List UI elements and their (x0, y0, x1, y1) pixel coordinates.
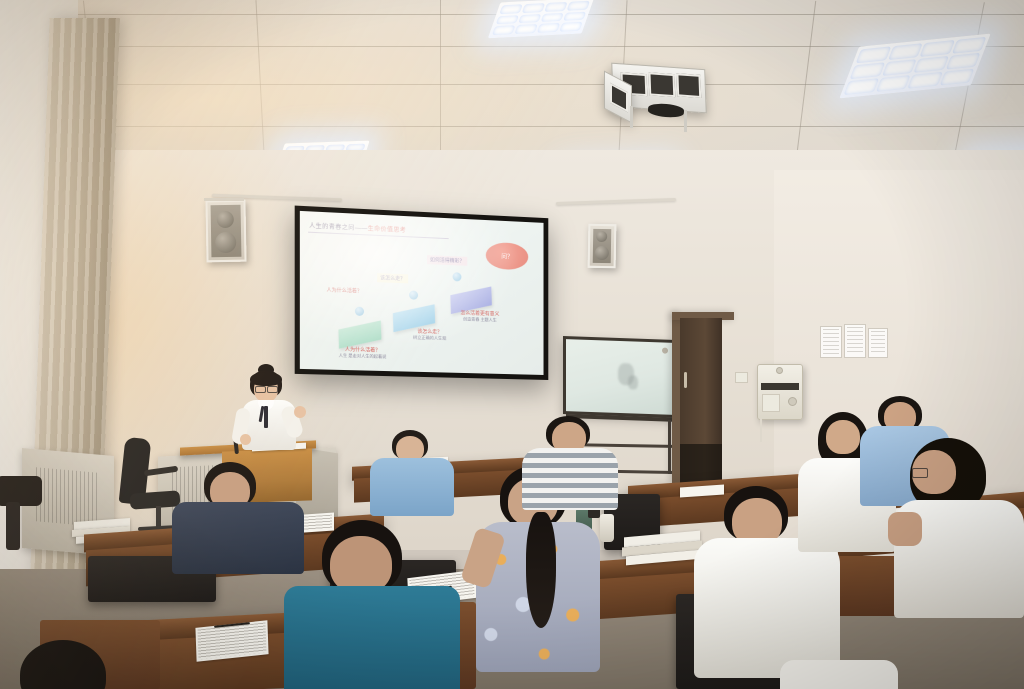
slide-card-green (338, 320, 381, 348)
student-light-blue-midleft (366, 430, 476, 510)
slide-label-mid: 该怎么走？ 树立正确的人生观 (413, 329, 446, 343)
student-white-farright (890, 438, 1024, 618)
classroom-photo: 人生的青春之问——生命价值思考 问？ 如何活得精彩？ 该怎么走？ 人为什么活着？… (0, 0, 1024, 689)
presenter (226, 366, 336, 458)
student-navy-frontleft (176, 462, 306, 572)
slide-tag-mid: 该怎么走？ (377, 273, 408, 283)
slide-tag-top: 如何活得精彩？ (427, 255, 467, 266)
slide-bubble-text: 问？ (501, 251, 513, 260)
presenter-ribbon-tie (264, 406, 268, 428)
slide-label-right: 怎么活着更有意义 创造青春 主题人生 (460, 310, 499, 324)
light-switch[interactable] (735, 372, 748, 383)
wall-notice-2 (844, 324, 866, 358)
wall-speaker-left (205, 200, 246, 263)
presenter-hand-left (240, 434, 251, 445)
slide-label-left-bottom: 人为什么活着？ 人生 是走对人生的起着说 (339, 347, 387, 361)
wall-notice-1 (820, 326, 842, 358)
ceiling-lamp-1 (488, 0, 594, 38)
wall-notice-3 (868, 328, 888, 358)
slide-dot-top (453, 272, 462, 281)
slide-label-left-top: 人为什么活着？ (326, 287, 362, 295)
student-partial-bottom-right (780, 660, 900, 689)
student-partial-bottom-left (10, 640, 130, 689)
equipment-silhouette (0, 476, 50, 556)
student-farright-hand (888, 512, 922, 546)
presenter-glasses (255, 386, 266, 393)
presenter-hand-right (294, 406, 306, 418)
slide-dot-mid (409, 290, 418, 299)
student-ponytail (526, 512, 556, 628)
wall-speaker-right (588, 224, 617, 268)
student-striped-center (520, 416, 630, 498)
slide-dot-left (355, 307, 364, 316)
slide-bubble: 问？ (486, 242, 528, 271)
projection-screen: 人生的青春之问——生命价值思考 问？ 如何活得精彩？ 该怎么走？ 人为什么活着？… (295, 206, 549, 380)
student-teal-front (300, 520, 460, 689)
